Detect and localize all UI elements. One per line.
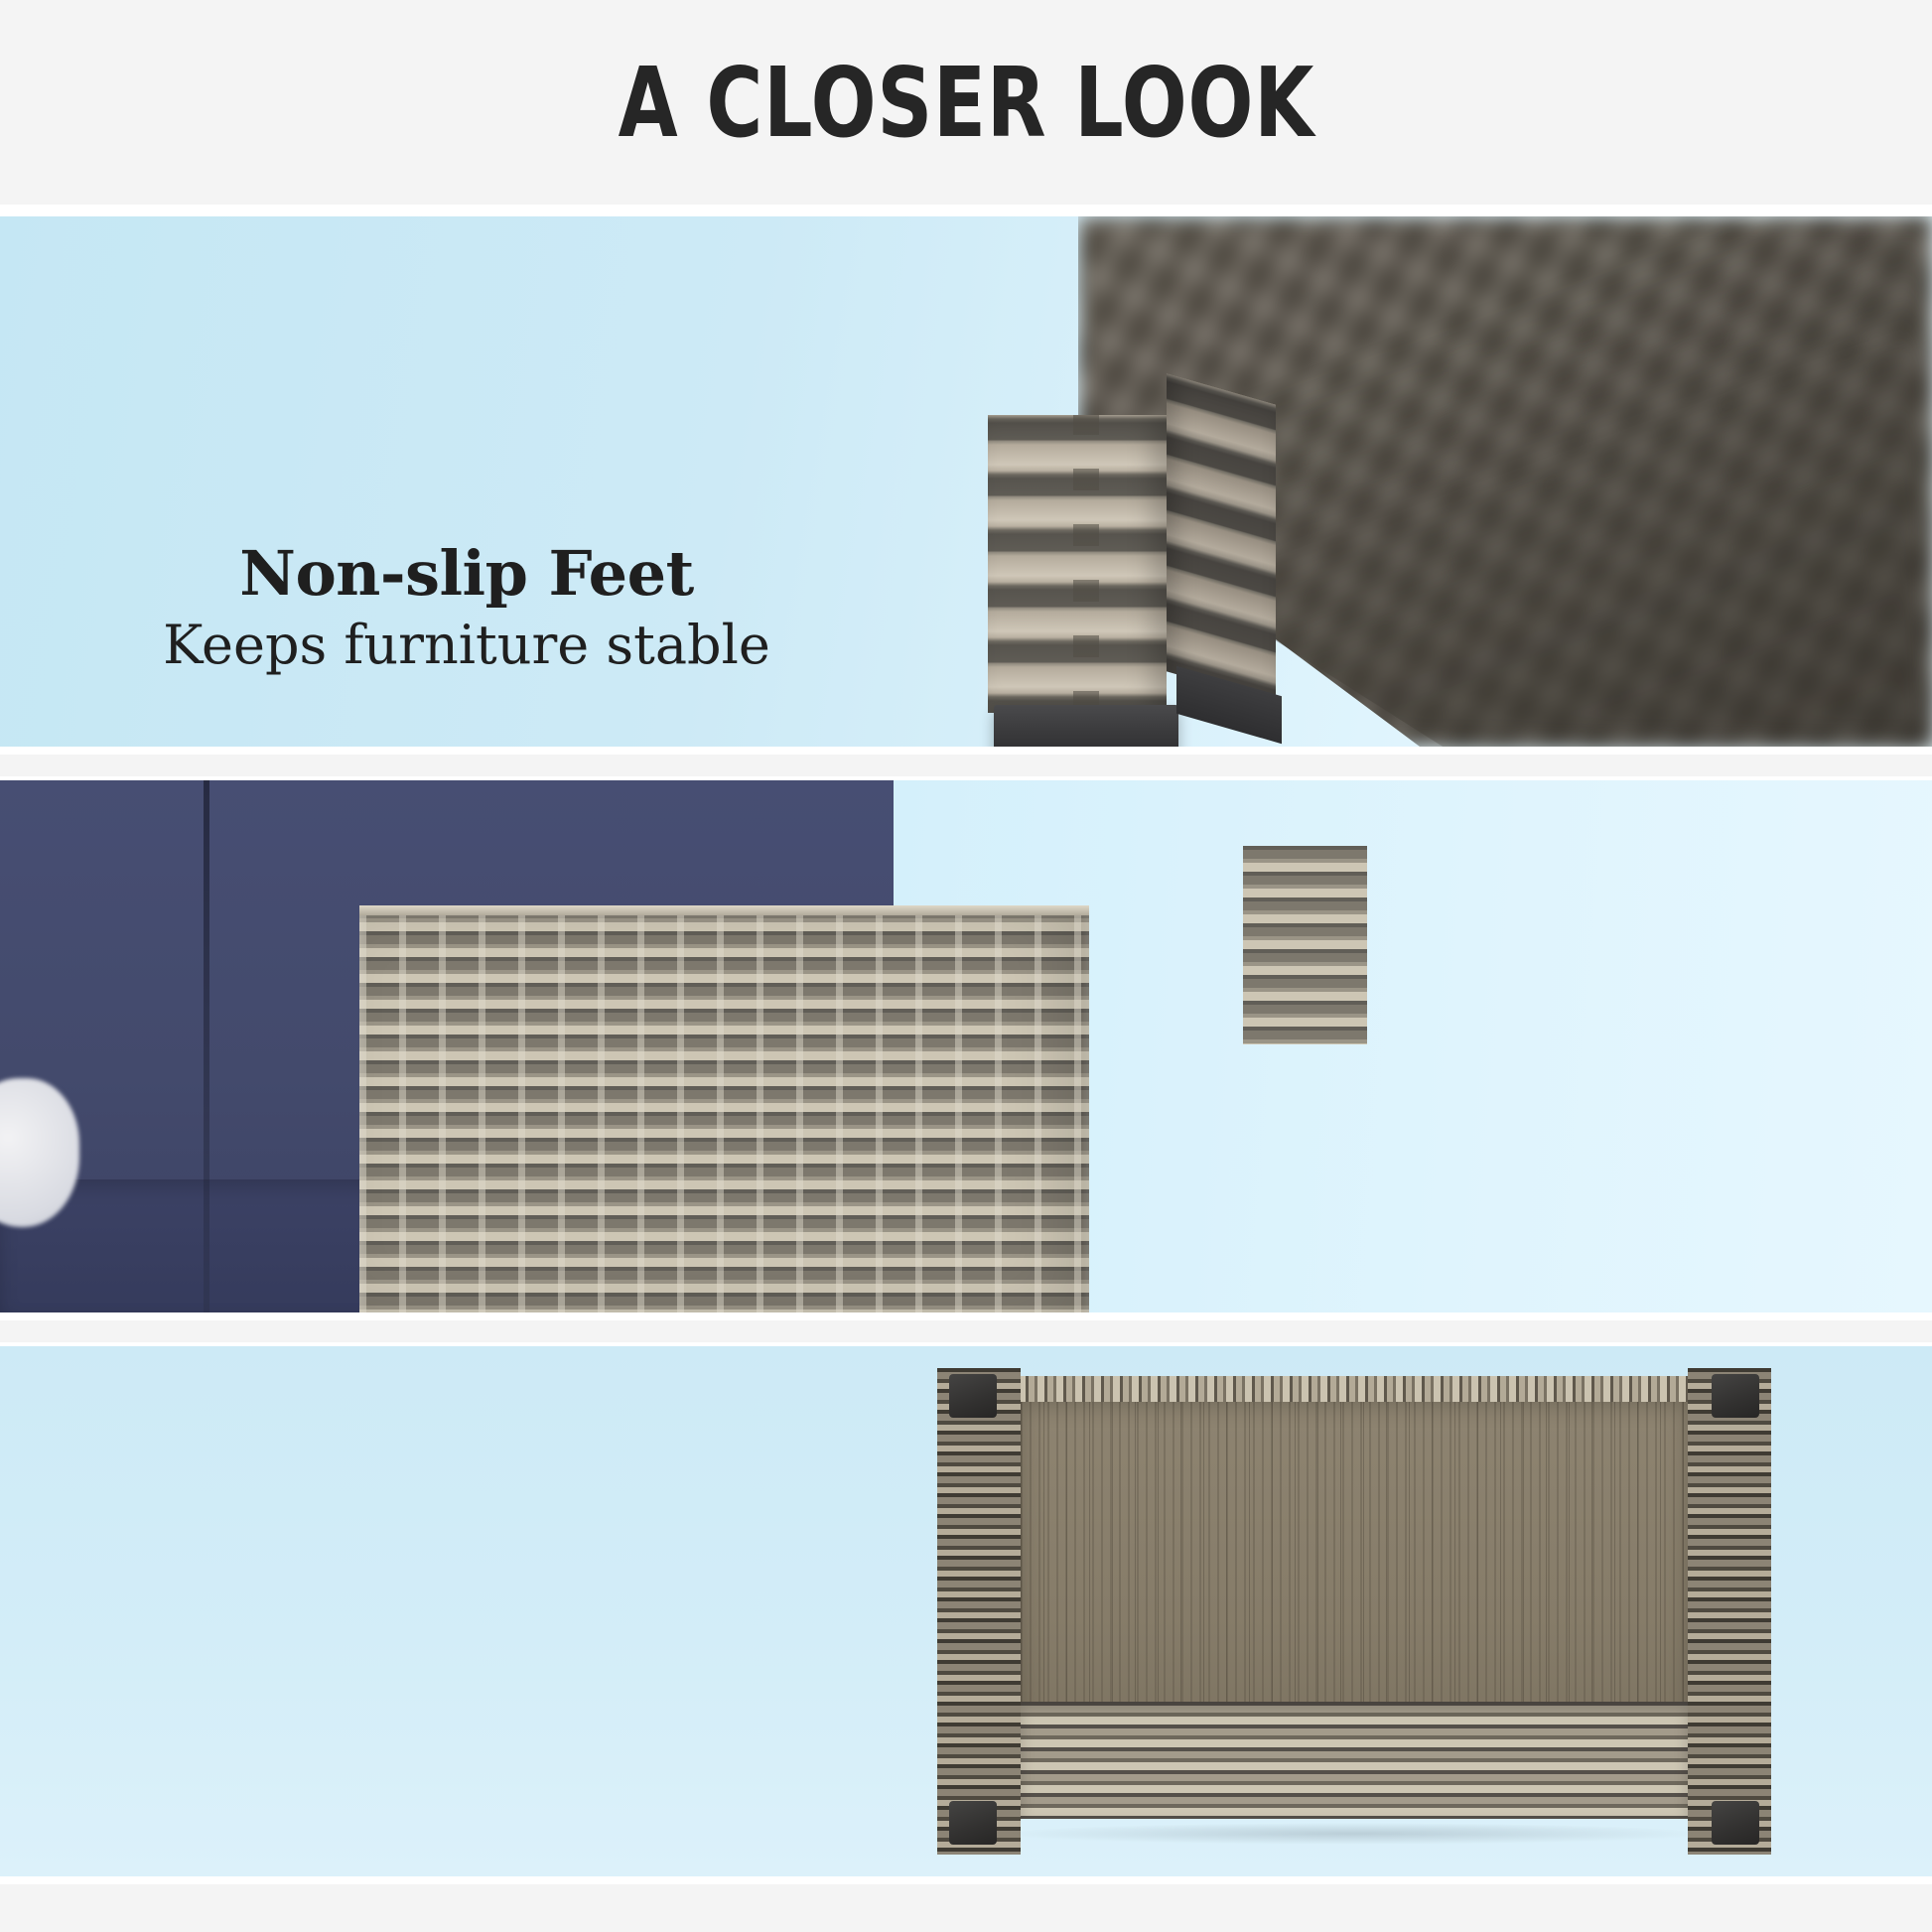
woven-backrest-post [1243,846,1367,1044]
footer-band [0,1884,1932,1932]
non-slip-foot-cap [994,705,1178,747]
caption-title: Non-slip Feet [89,539,844,608]
header-band: A CLOSER LOOK [0,0,1932,205]
woven-leg-front-face [988,415,1167,713]
sofa-left-post [937,1368,1021,1855]
woven-armrest-image [359,905,1089,1312]
woven-leg-side-face [1167,373,1276,703]
panel-divider-1 [0,755,1932,776]
sofa-right-post [1688,1368,1771,1855]
caption-subtitle-line: Keeps furniture stable [89,616,844,675]
page-title: A CLOSER LOOK [618,55,1313,151]
rattan-leg-closeup-image [988,415,1276,743]
panel-armrest: Armrest Enhances comfort and relaxtion [0,780,1932,1312]
infographic-page: A CLOSER LOOK Non-slip Feet Keeps furnit… [0,0,1932,1932]
sofa-frame-image [937,1368,1771,1855]
corner-foot-top-right [1712,1374,1759,1418]
corner-foot-top-left [949,1374,997,1418]
sofa-seat-rail [1021,1702,1688,1819]
panel-divider-2 [0,1320,1932,1342]
caption-non-slip-feet: Non-slip Feet Keeps furniture stable [89,539,844,676]
sofa-drop-shadow [997,1823,1712,1845]
sofa-top-rail [1019,1376,1690,1402]
corner-foot-bottom-right [1712,1801,1759,1845]
panel-easy-to-assemble: Easy to Assemble Can be installed in sho… [0,1346,1932,1876]
panel-non-slip-feet: Non-slip Feet Keeps furniture stable [0,216,1932,747]
corner-foot-bottom-left [949,1801,997,1845]
